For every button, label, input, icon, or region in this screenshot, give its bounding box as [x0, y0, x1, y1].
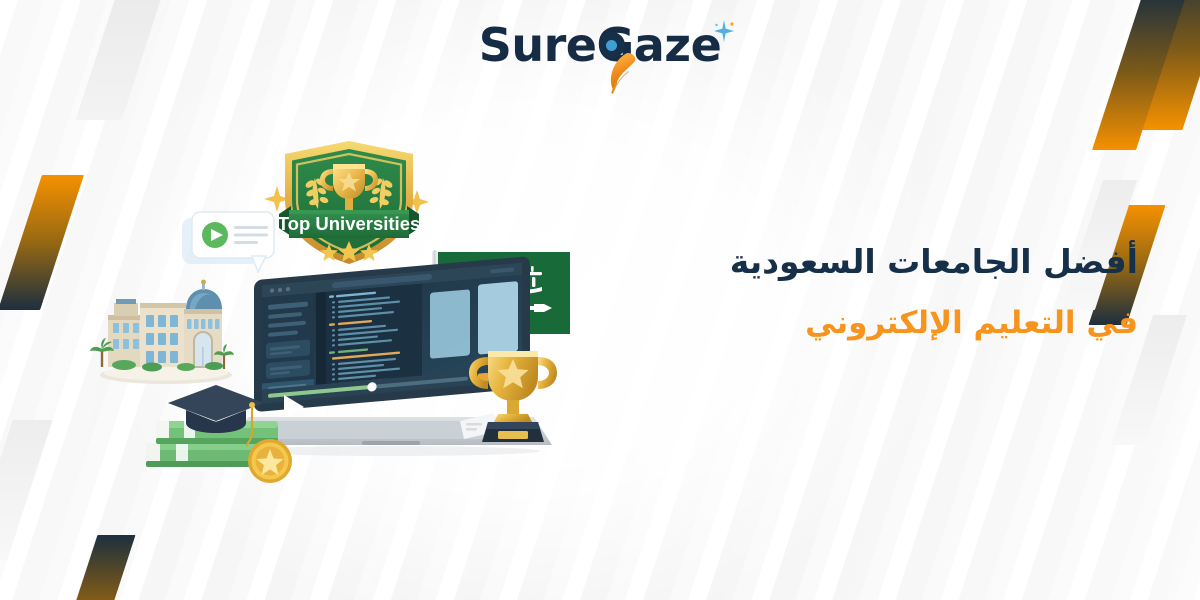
- headline-block: أفضل الجامعات السعودية في التعليم الإلكت…: [718, 240, 1138, 344]
- promotional-banner: SureGaze: [0, 0, 1200, 600]
- top-universities-badge: Top Universities Top Universities: [265, 138, 433, 268]
- university-building-icon: [94, 275, 234, 385]
- gold-star-medal-icon: [248, 439, 292, 483]
- headline-line-2: في التعليم الإلكتروني: [718, 303, 1138, 345]
- headline-line-1: أفضل الجامعات السعودية: [718, 240, 1138, 285]
- illustration-stage: Top Universities Top Universities: [80, 120, 600, 500]
- badge-ribbon-label: Top Universities: [278, 213, 421, 234]
- gold-trophy-icon: [460, 335, 565, 450]
- books-and-cap-group: [142, 375, 332, 485]
